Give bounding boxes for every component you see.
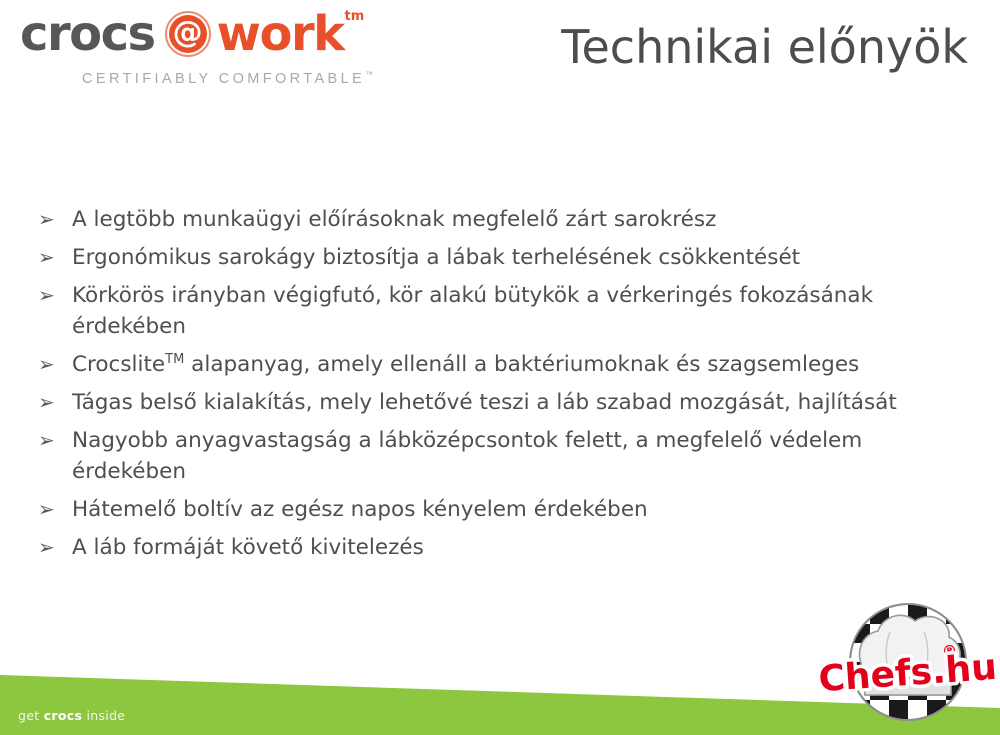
arrow-bullet-icon: ➢: [30, 494, 72, 525]
logo-wordmark: crocs@worktm: [20, 10, 363, 58]
chefs-hu-logo-graphic: ® Chefs.hu Chefs.hu: [818, 592, 998, 732]
arrow-bullet-icon: ➢: [30, 387, 72, 418]
list-item-label: A legtöbb munkaügyi előírásoknak megfele…: [72, 204, 917, 235]
arrow-bullet-icon: ➢: [30, 349, 72, 380]
at-glyph: @: [165, 11, 211, 57]
list-item-label: CrocsliteTM alapanyag, amely ellenáll a …: [72, 349, 917, 380]
chefs-hu-text: Chefs.hu: [818, 647, 998, 700]
page-title: Technikai előnyök: [561, 20, 968, 74]
logo-word-work: work: [217, 6, 344, 62]
presentation-slide: crocs@worktm CERTIFIABLY COMFORTABLE™ Te…: [0, 0, 1000, 735]
bullet-list: ➢ A legtöbb munkaügyi előírásoknak megfe…: [30, 204, 930, 570]
arrow-bullet-icon: ➢: [30, 242, 72, 273]
list-item-label: A láb formáját követő kivitelezés: [72, 532, 917, 563]
logo-tagline-text: CERTIFIABLY COMFORTABLE: [82, 71, 365, 87]
logo-word-crocs: crocs: [20, 6, 155, 62]
trademark-superscript: TM: [165, 352, 184, 367]
arrow-bullet-icon: ➢: [30, 204, 72, 235]
arrow-bullet-icon: ➢: [30, 280, 72, 311]
list-item: ➢ Ergonómikus sarokágy biztosítja a lába…: [30, 242, 930, 273]
chefs-hu-wordmark: Chefs.hu Chefs.hu: [818, 647, 998, 700]
list-item: ➢ Hátemelő boltív az egész napos kényele…: [30, 494, 930, 525]
arrow-bullet-icon: ➢: [30, 425, 72, 456]
list-item-label-rest: alapanyag, amely ellenáll a baktériumokn…: [184, 352, 859, 377]
logo-trademark: tm: [345, 9, 365, 24]
list-item: ➢ A legtöbb munkaügyi előírásoknak megfe…: [30, 204, 930, 235]
list-item: ➢ Körkörös irányban végigfutó, kör alakú…: [30, 280, 930, 342]
list-item-label: Tágas belső kialakítás, mely lehetővé te…: [72, 387, 917, 418]
list-item: ➢ CrocsliteTM alapanyag, amely ellenáll …: [30, 349, 930, 380]
at-symbol-icon: @: [165, 11, 211, 57]
footer-tagline-inside: inside: [82, 708, 125, 723]
list-item-label: Nagyobb anyagvastagság a lábközépcsontok…: [72, 425, 917, 487]
list-item: ➢ A láb formáját követő kivitelezés: [30, 532, 930, 563]
chefs-hu-logo: ® Chefs.hu Chefs.hu: [818, 592, 998, 732]
footer-tagline: get crocs inside: [18, 708, 125, 723]
logo-tagline: CERTIFIABLY COMFORTABLE™: [82, 70, 373, 87]
footer-tagline-crocs: crocs: [44, 708, 83, 723]
list-item-label-main: Crocslite: [72, 352, 165, 377]
list-item: ➢ Nagyobb anyagvastagság a lábközépcsont…: [30, 425, 930, 487]
crocs-at-work-logo: crocs@worktm CERTIFIABLY COMFORTABLE™: [20, 10, 420, 100]
list-item-label: Ergonómikus sarokágy biztosítja a lábak …: [72, 242, 917, 273]
logo-tagline-trademark: ™: [365, 70, 373, 79]
arrow-bullet-icon: ➢: [30, 532, 72, 563]
footer-tagline-get: get: [18, 708, 44, 723]
list-item-label: Hátemelő boltív az egész napos kényelem …: [72, 494, 917, 525]
list-item: ➢ Tágas belső kialakítás, mely lehetővé …: [30, 387, 930, 418]
list-item-label: Körkörös irányban végigfutó, kör alakú b…: [72, 280, 917, 342]
